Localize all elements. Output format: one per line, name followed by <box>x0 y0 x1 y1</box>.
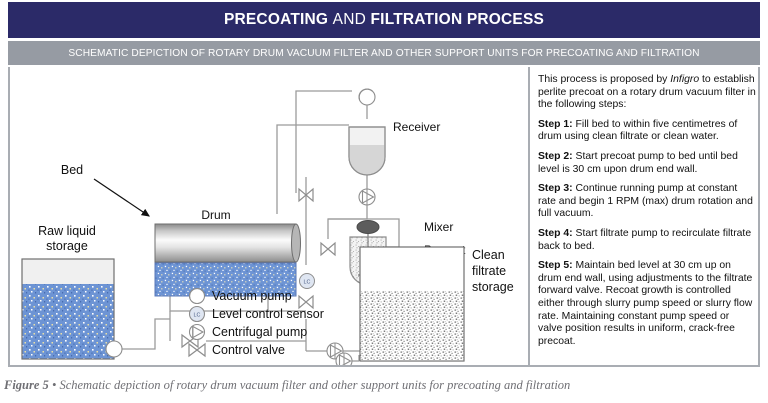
panel-divider <box>528 67 530 367</box>
pipe-drum-to-vacuum-header <box>296 91 352 193</box>
figure-title-bar: PRECOATING AND FILTRATION PROCESS <box>8 2 760 38</box>
step-4-label: Step 4: <box>538 228 573 239</box>
title-part-3: FILTRATION PROCESS <box>371 11 545 28</box>
receiver-vessel <box>349 127 385 175</box>
process-schematic: Drum Bed LC Re <box>10 69 528 365</box>
process-steps-panel: This process is proposed by Infigro to e… <box>538 74 756 355</box>
figure-container: PRECOATING AND FILTRATION PROCESS SCHEMA… <box>0 0 768 403</box>
clean-filtrate-storage-tank <box>360 247 464 361</box>
step-5-text: Maintain bed level at 30 cm up on drum e… <box>538 260 752 347</box>
figure-subtitle-bar: SCHEMATIC DEPICTION OF ROTARY DRUM VACUU… <box>8 41 760 65</box>
step-1-label: Step 1: <box>538 119 573 130</box>
svg-text:LC: LC <box>194 313 201 319</box>
level-control-sensor-icon: LC <box>300 274 315 289</box>
caption-separator: • <box>52 378 56 392</box>
title-part-1: PRECOATING <box>224 11 328 28</box>
caption-text: Schematic depiction of rotary drum vacuu… <box>59 378 570 392</box>
legend-item-centrifugal-pump: Centrifugal pump <box>190 325 308 340</box>
level-sensor-tag: LC <box>304 280 311 286</box>
step-1: Step 1: Fill bed to within five centimet… <box>538 119 756 144</box>
figure-subtitle: SCHEMATIC DEPICTION OF ROTARY DRUM VACUU… <box>68 48 699 59</box>
step-3-label: Step 3: <box>538 183 573 194</box>
legend-item-level-control-sensor: LC Level control sensor <box>190 307 324 322</box>
vacuum-pump-icon <box>359 89 375 105</box>
pipe-raw-feed <box>122 319 170 349</box>
intro-text-a: This process is proposed by <box>538 74 670 85</box>
centrifugal-pump-legend-icon <box>190 325 205 340</box>
intro-paragraph: This process is proposed by Infigro to e… <box>538 74 756 112</box>
mixer-label: Mixer <box>424 220 453 234</box>
raw-liquid-storage-label-line2: storage <box>46 239 88 253</box>
level-control-sensor-legend-icon: LC <box>190 307 205 322</box>
brand-name: Infigro <box>670 74 699 85</box>
step-2: Step 2: Start precoat pump to bed until … <box>538 151 756 176</box>
figure-caption: Figure 5 • Schematic depiction of rotary… <box>4 378 764 393</box>
step-4: Step 4: Start filtrate pump to recircula… <box>538 228 756 253</box>
drum-label: Drum <box>201 208 230 222</box>
centrifugal-pump-filtrate-out-icon <box>336 353 352 365</box>
clean-filtrate-label-line3: storage <box>472 280 514 294</box>
step-3: Step 3: Continue running pump at constan… <box>538 183 756 221</box>
title-part-2: AND <box>333 11 366 28</box>
vacuum-pump-legend-icon <box>190 289 205 304</box>
rotary-drum <box>155 224 301 262</box>
legend-item-control-valve: Control valve <box>189 343 285 357</box>
step-5: Step 5: Maintain bed level at 30 cm up o… <box>538 260 756 348</box>
control-valve-filtrate-forward <box>321 243 335 255</box>
figure-title: PRECOATING AND FILTRATION PROCESS <box>224 11 544 29</box>
legend-label-control-valve: Control valve <box>212 343 285 357</box>
legend: Vacuum pump LC Level control sensor <box>189 289 324 358</box>
clean-filtrate-label-line1: Clean <box>472 248 505 262</box>
raw-liquid-storage-tank <box>22 259 114 359</box>
bed-label: Bed <box>61 163 83 177</box>
figure-number: Figure 5 <box>4 378 49 392</box>
centrifugal-pump-raw-icon <box>106 341 122 357</box>
raw-liquid-storage-label-line1: Raw liquid <box>38 224 96 238</box>
centrifugal-pump-filtrate-icon <box>359 189 375 205</box>
bed-callout-arrow <box>94 179 149 216</box>
legend-label-level-control-sensor: Level control sensor <box>212 307 324 321</box>
step-2-label: Step 2: <box>538 151 573 162</box>
clean-filtrate-label-line2: filtrate <box>472 264 506 278</box>
mixer-motor-icon <box>357 221 379 234</box>
step-5-label: Step 5: <box>538 260 573 271</box>
legend-label-centrifugal-pump: Centrifugal pump <box>212 325 307 339</box>
legend-label-vacuum-pump: Vacuum pump <box>212 289 292 303</box>
receiver-label: Receiver <box>393 120 440 134</box>
